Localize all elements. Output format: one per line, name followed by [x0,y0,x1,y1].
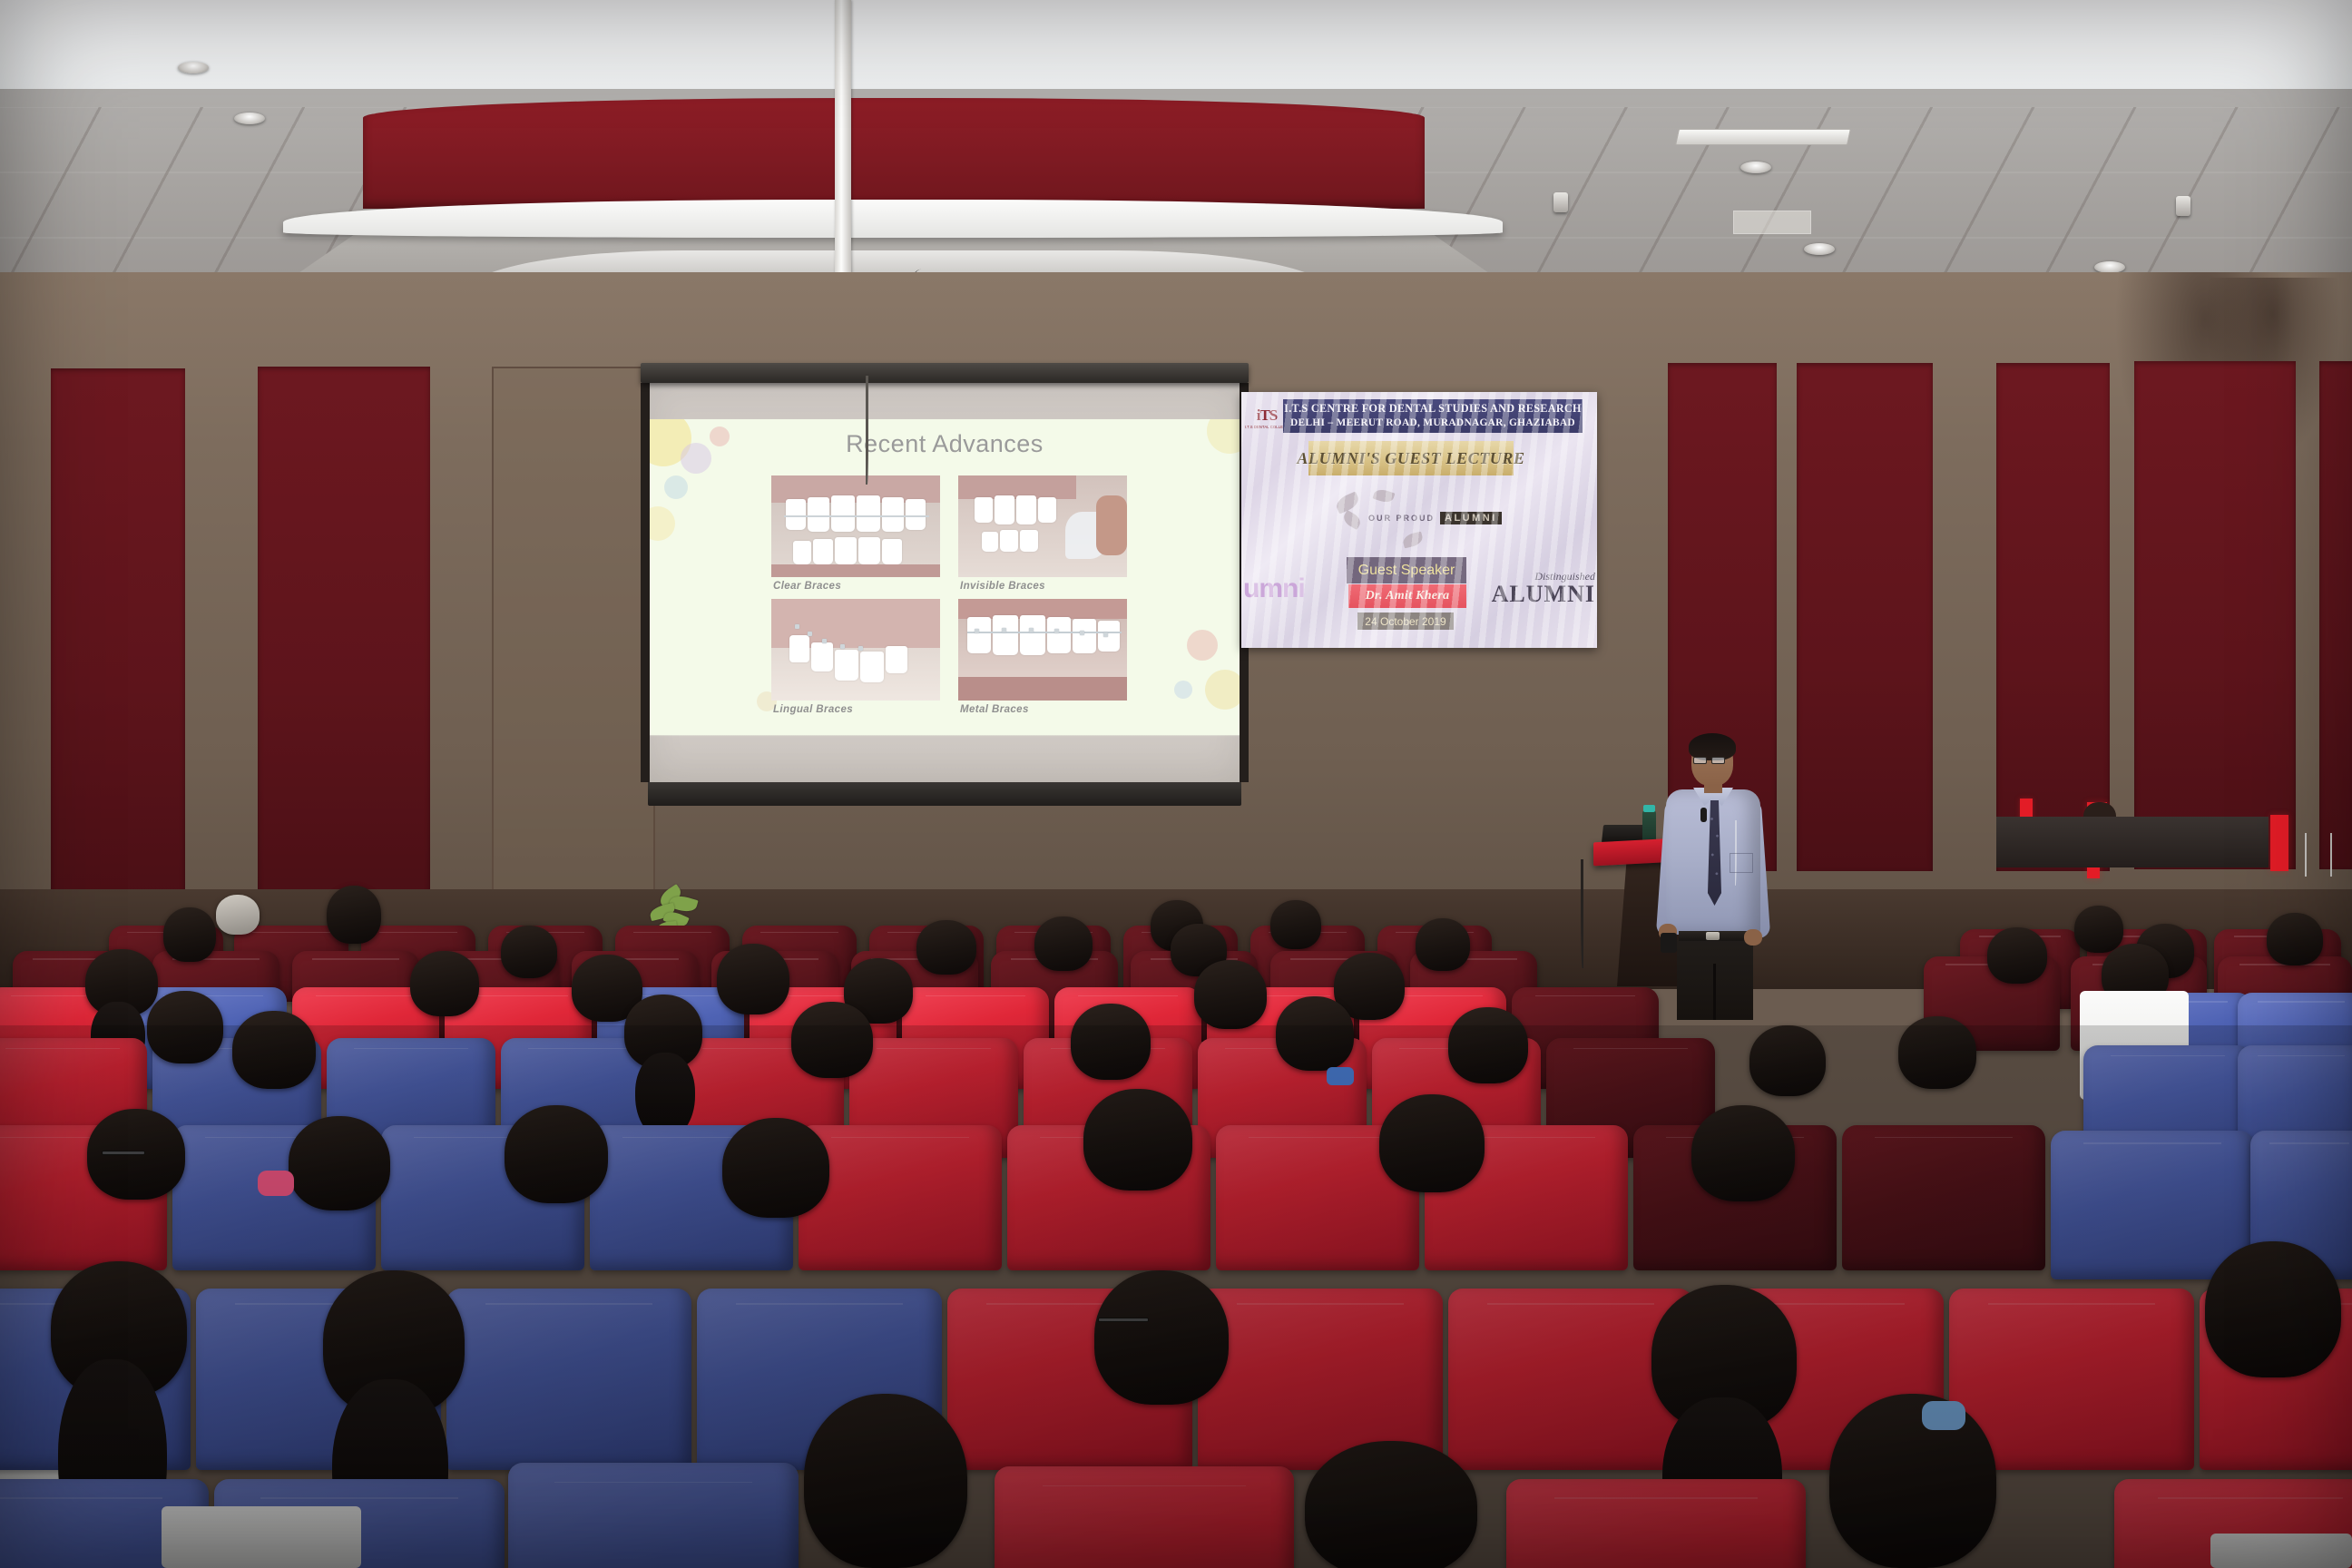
slide-image-clear-braces [771,475,940,577]
presenter-leg-split [1713,964,1716,1020]
banner-proud-prefix: OUR PROUD [1368,514,1435,523]
open-ceiling-tile [1733,211,1811,234]
audience-head [1083,1089,1192,1191]
ceiling-bulkhead [281,89,1506,252]
downlight-2 [1804,243,1835,255]
tooth [786,499,806,530]
tooth [975,497,993,523]
tooth [1020,615,1045,655]
slide-blob-5 [650,506,675,541]
tooth [1073,619,1096,653]
wall-panel-6 [2134,361,2296,869]
back-table [1996,817,2269,867]
slide-image-label: Lingual Braces [773,704,853,715]
audience-head [2074,906,2123,953]
tooth [808,497,829,532]
audience-head [1987,927,2047,984]
slide-image-metal-braces [958,599,1127,701]
dove-graphic-3 [1341,510,1363,530]
presenter-belt-buckle [1706,932,1720,940]
seat[interactable] [2051,1131,2254,1279]
bulkhead-red-panel [363,98,1425,209]
seat[interactable] [446,1289,691,1470]
audience-head [1898,1016,1976,1089]
seat[interactable] [799,1125,1002,1270]
audience-head [1448,1007,1528,1083]
linear-ceiling-light-right [1675,129,1851,145]
red-accent-post-4 [2270,815,2288,871]
banner-proud-word: ALUMNI [1440,512,1502,524]
audience-head [1416,918,1470,971]
lapel-microphone-icon [1700,808,1707,822]
slide-image-lingual-braces [771,599,940,701]
tooth-lower [793,541,811,564]
audience-head [1379,1094,1485,1192]
hair-scrunchie-blue-3 [1922,1401,1965,1430]
audience-head [1194,960,1267,1029]
presenter-shirt-pocket [1730,853,1753,873]
projection-screen[interactable]: Recent Advances [641,363,1249,821]
water-bottle [1642,810,1656,843]
metal-bracket [1103,632,1108,637]
wall-panel-5 [1996,363,2110,871]
gum-lower [958,677,1127,701]
seat[interactable] [508,1463,799,1568]
banner-date-box: 24 October 2019 [1357,612,1454,630]
slide-image-invisible-braces [958,475,1127,577]
banner-speaker-label: Guest Speaker [1358,563,1455,579]
banner-institution-line2: DELHI – MEERUT ROAD, MURADNAGAR, GHAZIAB… [1290,416,1575,430]
banner-event-title: ALUMNI'S GUEST LECTURE [1308,441,1514,475]
slide-blob-7 [1187,630,1218,661]
tooth [1020,530,1038,552]
tooth [789,635,809,662]
banner-left-graphic: umni [1243,573,1305,604]
audience-head [505,1105,608,1203]
sprinkler-head-1 [1553,192,1568,212]
tooth-lower [813,539,833,564]
banner-date: 24 October 2019 [1365,615,1445,628]
tooth [993,615,1018,655]
tooth [882,497,904,532]
gum-lower [771,564,940,577]
wall-panel-4 [1797,363,1933,871]
downlight-5 [234,113,265,124]
wall-panel-1 [51,368,185,904]
slide-blob-4 [664,475,688,499]
slide-blob-9 [1174,681,1192,699]
tooth [1047,617,1071,653]
tooth-lower [858,537,880,564]
tooth [835,650,858,681]
banner-left-graphic-text: umni [1243,573,1305,603]
screen-hanging-cable [866,376,868,485]
banner-institution-header: I.T.S CENTRE FOR DENTAL STUDIES AND RESE… [1283,399,1583,433]
tooth [967,617,991,653]
archwire [967,632,1122,633]
downlight-4 [1740,162,1771,173]
lingual-bracket [840,644,845,649]
fingers [1096,495,1127,555]
water-bottle-cap [1643,805,1655,812]
metal-bracket [975,629,979,633]
audience-head [289,1116,390,1210]
banner-speaker-name-box: Dr. Amit Khera [1348,584,1466,608]
lingual-bracket [795,624,799,629]
audience-head [410,951,479,1016]
audience-head [1829,1394,1996,1568]
tooth-lower [882,539,902,564]
dove-graphic-4 [1402,532,1425,549]
banner-right-graphic: Distinguished ALUMNI [1492,570,1595,606]
slide-image-label: Clear Braces [773,581,841,592]
audience-head [1034,916,1093,971]
seat[interactable] [1506,1479,1806,1568]
audience-head [722,1118,829,1218]
banner-right-word: ALUMNI [1492,583,1595,606]
audience-head [1094,1270,1229,1405]
audience-head [1305,1441,1477,1568]
banner-institution-line1: I.T.S CENTRE FOR DENTAL STUDIES AND RESE… [1284,402,1582,416]
slide-content: Recent Advances [650,419,1240,735]
tooth [1016,495,1036,524]
mic-stand-2 [2330,833,2332,877]
projector-mount-pole [835,0,851,318]
banner-speaker-label-box: Guest Speaker [1347,557,1466,583]
tooth [906,499,926,530]
dove-graphic-2 [1373,487,1396,505]
its-logo: iTS I.T.S DENTAL COLLEGE [1247,399,1287,436]
tooth [982,532,998,552]
screen-top-casing [641,363,1249,383]
tooth [857,495,880,532]
tooth [860,652,884,682]
slide-image-label: Metal Braces [960,704,1029,715]
tooth [811,642,833,671]
banner-proud-alumni-row: OUR PROUD ALUMNI [1368,512,1502,524]
audience-head [216,895,260,935]
presenter [1659,737,1768,1016]
tooth-lower [835,537,857,564]
audience-head [2267,913,2323,965]
presenter-glasses-right [1711,757,1725,764]
audience-head [791,1002,873,1078]
tooth [831,495,855,532]
audience-head [1276,996,1354,1071]
event-banner: iTS I.T.S DENTAL COLLEGE I.T.S CENTRE FO… [1241,392,1597,648]
archwire [784,515,929,517]
slide-image-grid: Clear Braces Invisible Braces [771,475,1127,720]
tooth [995,495,1014,524]
tooth [1000,530,1018,552]
slide-image-label: Invisible Braces [960,581,1045,592]
audience-head [1071,1004,1151,1080]
audience-head [1270,900,1321,949]
tooth [1098,621,1120,652]
audience-head [1691,1105,1795,1201]
lectern-cable [1581,859,1583,968]
downlight-1 [178,62,209,73]
its-logo-mark: iTS [1257,407,1278,425]
hair-scrunchie-blue [1327,1067,1354,1085]
presenter-glasses-left [1693,757,1707,764]
mic-stand-1 [2305,833,2307,877]
sprinkler-head-2 [2176,196,2190,216]
presenter-tie-pattern [1708,808,1721,902]
presenter-right-hand [1744,929,1762,946]
hair-scrunchie-pink-2 [258,1171,294,1196]
slide-title: Recent Advances [650,430,1240,458]
wall-door [492,367,655,911]
banner-event-title-band: ALUMNI'S GUEST LECTURE [1308,441,1514,475]
metal-bracket [1080,631,1084,635]
tooth [1038,497,1056,523]
auditorium-photo: Recent Advances [0,0,2352,1568]
screen-bottom-bar [648,782,1241,806]
metal-bracket [1002,628,1006,632]
seat[interactable] [1842,1125,2045,1270]
audience-head [916,920,976,975]
audience-head [147,991,223,1063]
screen-left-edge [641,383,650,782]
wall-panel-2 [258,367,430,907]
audience-glasses [102,1151,145,1155]
audience-head [2205,1241,2341,1377]
tooth [886,646,907,673]
audience-head [232,1011,316,1089]
metal-bracket [1029,628,1034,632]
seat[interactable] [995,1466,1294,1568]
its-logo-subtitle: I.T.S DENTAL COLLEGE [1245,425,1289,429]
audience-head [501,926,557,978]
banner-speaker-name: Dr. Amit Khera [1366,589,1450,603]
ceiling-upper-strip [0,0,2352,89]
metal-bracket [1054,629,1059,633]
presenter-remote [1661,933,1677,953]
slide-blob-8 [1205,670,1240,710]
lingual-bracket [808,632,812,636]
lingual-bracket [822,639,827,643]
audience-head [1749,1025,1826,1096]
lingual-bracket [858,646,863,651]
audience-white-coat-front-2 [2210,1534,2352,1568]
audience-head [163,907,216,962]
audience-head [804,1394,967,1568]
audience-glasses-2 [1098,1318,1149,1322]
audience-head [327,886,381,944]
audience-white-coat-front [162,1506,361,1568]
wall-panel-7 [2319,361,2352,869]
audience-head [717,944,789,1014]
bulkhead-white-trim [283,200,1503,238]
